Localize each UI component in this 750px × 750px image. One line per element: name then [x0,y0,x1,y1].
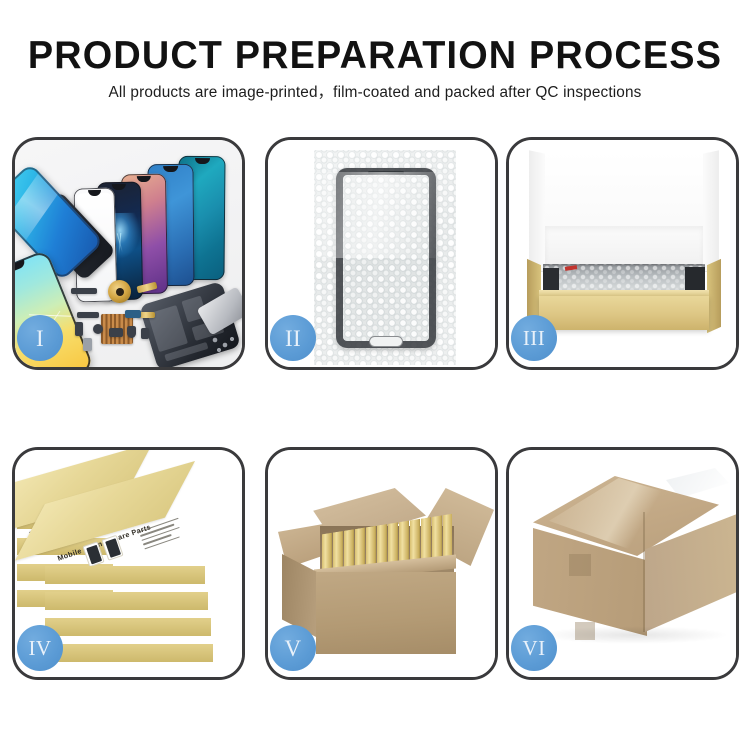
wrap-sheen [300,172,470,258]
small-part [141,328,149,339]
step-numeral: I [36,327,44,350]
small-part [77,312,99,318]
tray-right-wall [707,259,721,333]
step-numeral: II [285,327,301,350]
small-part [83,338,92,351]
screws-group [211,336,237,354]
kraft-tray-front [539,296,709,330]
small-part [93,324,103,334]
step-numeral: VI [523,638,546,659]
step-badge-5: V [270,625,316,671]
step-numeral: IV [29,638,52,659]
bubble-wrap-sheet [314,150,456,365]
step-panel-2: II [265,137,498,370]
small-part [109,328,123,337]
carton-flap-mark [569,554,591,576]
speaker-coil-part [108,280,131,303]
process-step-grid: I II [0,0,750,750]
small-part [127,326,136,338]
small-part [71,288,97,294]
small-part [75,322,83,336]
step-numeral: V [284,637,301,660]
step-badge-6: VI [511,625,557,671]
step-badge-2: II [270,315,316,361]
infographic-page: PRODUCT PREPARATION PROCESS All products… [0,0,750,750]
carton-front-face [316,572,456,654]
step-panel-4: Mobile Phone Spare Parts Mobile Phone Sp… [12,447,245,680]
step-badge-1: I [17,315,63,361]
step-numeral: III [523,328,545,349]
step-panel-5: V [265,447,498,680]
carton-corner-seam [643,512,645,632]
small-part [125,310,141,318]
step-badge-3: III [511,315,557,361]
carton-shadow [539,626,729,644]
step-panel-1: I [12,137,245,370]
step-badge-4: IV [17,625,63,671]
step-panel-6: VI [506,447,739,680]
step-panel-3: III [506,137,739,370]
